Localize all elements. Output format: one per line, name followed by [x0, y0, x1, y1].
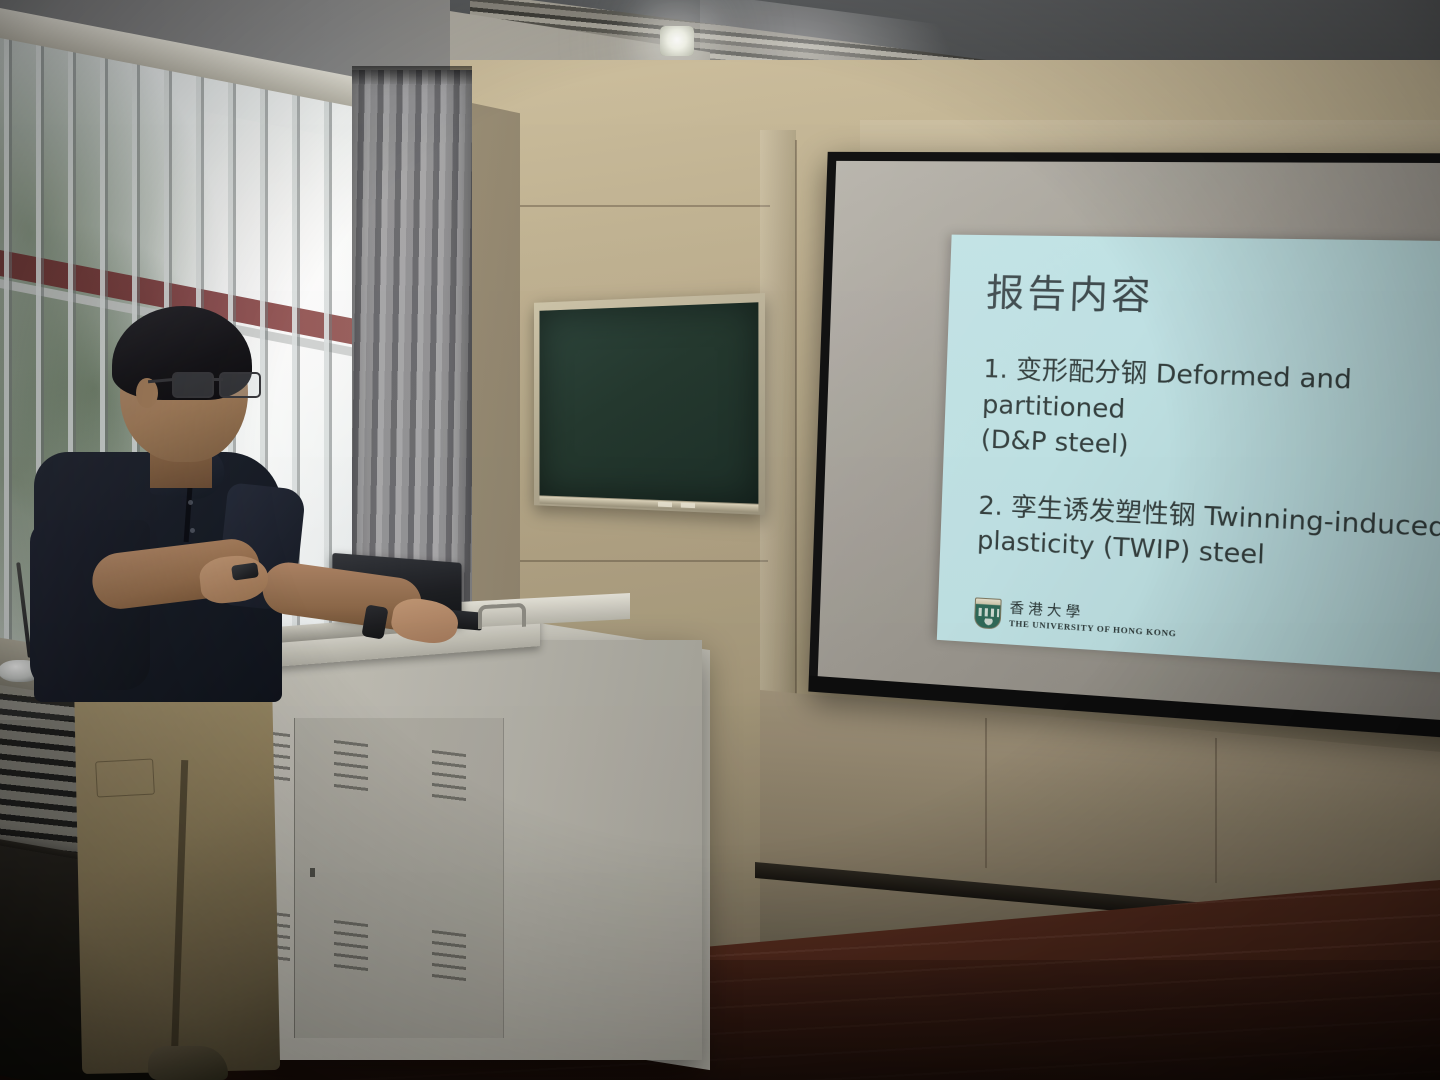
presenter-glasses-bridge	[213, 378, 223, 381]
presenter-glasses-right-lens	[219, 372, 261, 398]
presenter-far-hand	[389, 595, 461, 648]
presenter-glasses-left-lens	[172, 372, 214, 398]
presenter-ear	[136, 378, 158, 408]
presenter-wristwatch	[361, 604, 388, 639]
presenter	[0, 0, 1440, 1080]
presenter-shirt-button	[190, 528, 195, 533]
presenter-shoe	[148, 1046, 228, 1080]
presenter-pocket	[95, 759, 155, 798]
presentation-photo-scene: 报告内容 1. 变形配分钢 Deformed and partitioned (…	[0, 0, 1440, 1080]
presenter-shirt-button	[188, 500, 193, 505]
